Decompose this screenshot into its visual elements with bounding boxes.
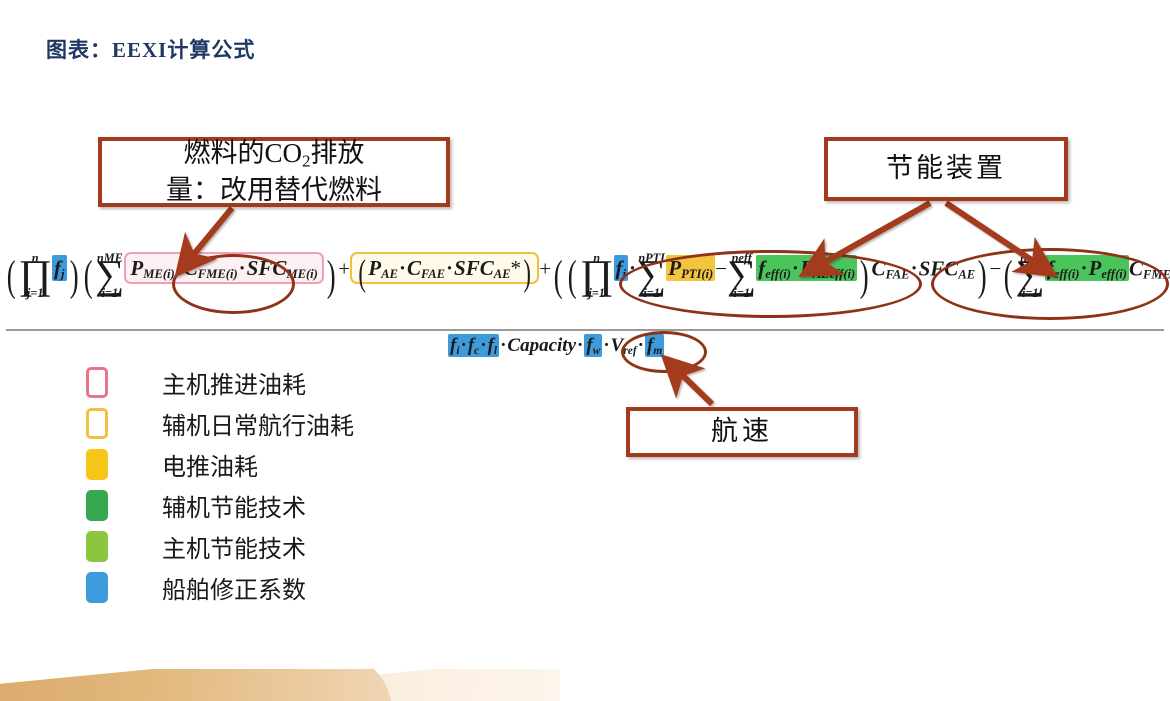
arrow-speed-to-vref bbox=[677, 370, 712, 404]
callout-fuel-line1-pre: 燃料的CO bbox=[184, 138, 303, 168]
legend-swatch-ae-daily bbox=[86, 408, 108, 439]
decorative-mask bbox=[128, 639, 568, 669]
legend-swatch-electric-propulsion bbox=[86, 449, 108, 480]
legend-swatch-me-propulsion bbox=[86, 367, 108, 398]
callout-ship-speed: 航速 bbox=[626, 407, 858, 457]
page-title: 图表：EEXI计算公式 bbox=[46, 34, 255, 64]
legend-label: 电推油耗 bbox=[162, 447, 258, 482]
ellipse-highlight-cfme bbox=[172, 254, 295, 314]
callout-energy-saving-device: 节能装置 bbox=[824, 137, 1068, 201]
legend-item: 船舶修正系数 bbox=[86, 567, 354, 608]
legend-label: 辅机节能技术 bbox=[162, 488, 306, 523]
legend-swatch-ae-energy-saving bbox=[86, 490, 108, 521]
legend: 主机推进油耗 辅机日常航行油耗 电推油耗 辅机节能技术 主机节能技术 船舶修正系… bbox=[86, 362, 354, 608]
legend-item: 电推油耗 bbox=[86, 444, 354, 485]
callout-fuel-line1-post: 排放 bbox=[310, 138, 364, 168]
legend-label: 辅机日常航行油耗 bbox=[162, 406, 354, 441]
legend-item: 辅机节能技术 bbox=[86, 485, 354, 526]
callout-fuel-co2: 燃料的CO2排放 量：改用替代燃料 bbox=[98, 137, 450, 207]
fraction-bar bbox=[6, 329, 1164, 331]
legend-label: 船舶修正系数 bbox=[162, 570, 306, 605]
slide-canvas: 图表：EEXI计算公式 (∏nj=1fj)(∑nMEi=1PME(i)·CFME… bbox=[0, 0, 1170, 701]
legend-swatch-ship-correction bbox=[86, 572, 108, 603]
legend-item: 主机节能技术 bbox=[86, 526, 354, 567]
legend-item: 辅机日常航行油耗 bbox=[86, 403, 354, 444]
ellipse-highlight-esd-me bbox=[931, 248, 1169, 320]
legend-swatch-me-energy-saving bbox=[86, 531, 108, 562]
legend-item: 主机推进油耗 bbox=[86, 362, 354, 403]
legend-label: 主机推进油耗 bbox=[162, 365, 306, 400]
ellipse-highlight-speed bbox=[621, 331, 707, 373]
callout-fuel-line2: 量：改用替代燃料 bbox=[166, 173, 382, 208]
ellipse-highlight-esd-ae bbox=[619, 250, 922, 318]
legend-label: 主机节能技术 bbox=[162, 529, 306, 564]
